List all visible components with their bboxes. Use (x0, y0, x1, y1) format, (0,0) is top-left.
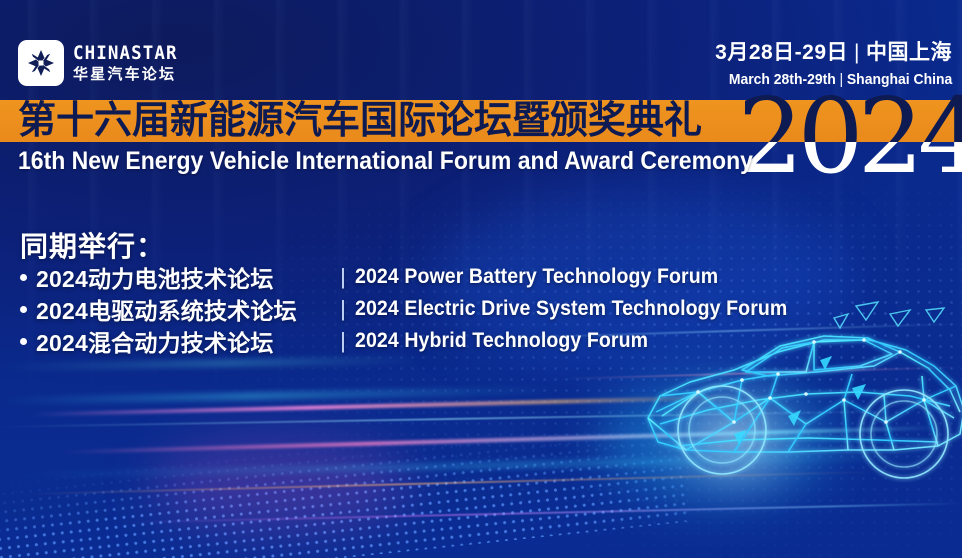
page-title-cn: 第十六届新能源汽车国际论坛暨颁奖典礼 (18, 96, 702, 146)
meta-separator: | (848, 41, 866, 64)
forum-separator: | (331, 296, 355, 322)
list-item: 2024动力电池技术论坛 | 2024 Power Battery Techno… (20, 262, 820, 292)
event-meta-en: March 28th-29th|Shanghai China (729, 72, 952, 87)
event-banner: CHINASTAR 华星汽车论坛 3月28日-29日|中国上海 March 28… (0, 0, 962, 558)
page-title-en: 16th New Energy Vehicle International Fo… (18, 146, 753, 176)
brand-logo[interactable]: CHINASTAR 华星汽车论坛 (18, 40, 187, 86)
brand-name-en: CHINASTAR (73, 44, 178, 63)
event-date-cn: 3月28日-29日 (715, 41, 848, 64)
bullet-icon (20, 338, 27, 345)
bullet-icon (20, 274, 27, 281)
bullet-icon (20, 306, 27, 313)
list-item: 2024混合动力技术论坛 | 2024 Hybrid Technology Fo… (20, 326, 820, 356)
forum-name-en: 2024 Power Battery Technology Forum (355, 265, 718, 289)
forum-name-cn: 2024混合动力技术论坛 (36, 324, 331, 358)
forum-name-cn: 2024电驱动系统技术论坛 (36, 292, 331, 326)
forum-name-en: 2024 Hybrid Technology Forum (355, 329, 648, 353)
list-item: 2024电驱动系统技术论坛 | 2024 Electric Drive Syst… (20, 294, 820, 324)
chinastar-star-emblem-icon (18, 40, 64, 86)
brand-name-cn: 华星汽车论坛 (73, 67, 187, 82)
forum-name-en: 2024 Electric Drive System Technology Fo… (355, 297, 787, 321)
forum-separator: | (331, 328, 355, 354)
event-location-cn: 中国上海 (866, 41, 952, 64)
forum-separator: | (331, 264, 355, 290)
brand-logo-text: CHINASTAR 华星汽车论坛 (73, 44, 187, 82)
event-meta-cn: 3月28日-29日|中国上海 (712, 42, 952, 63)
forum-name-cn: 2024动力电池技术论坛 (36, 260, 331, 294)
event-meta: 3月28日-29日|中国上海 March 28th-29th|Shanghai … (712, 42, 952, 87)
concurrent-forum-list: 2024动力电池技术论坛 | 2024 Power Battery Techno… (20, 262, 820, 358)
concurrent-heading: 同期举行： (20, 225, 165, 265)
